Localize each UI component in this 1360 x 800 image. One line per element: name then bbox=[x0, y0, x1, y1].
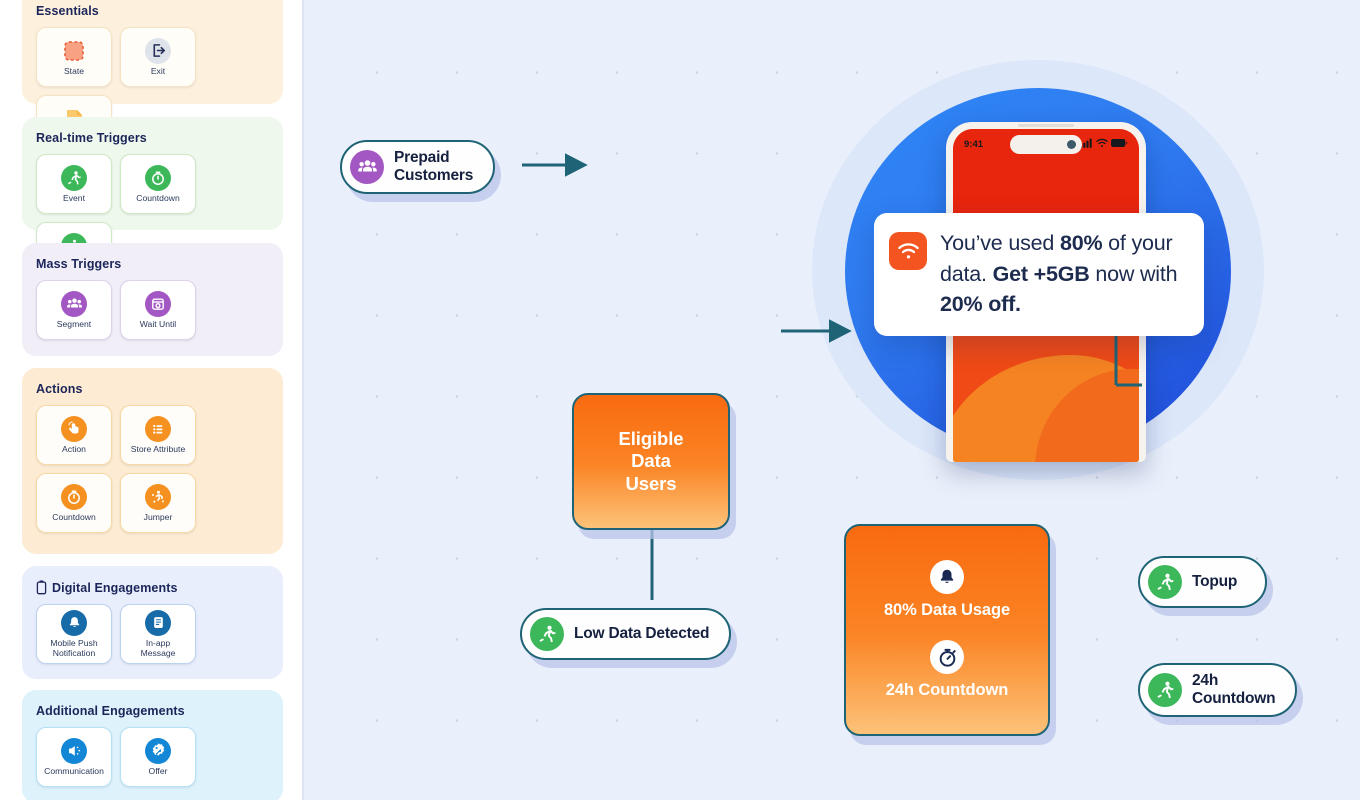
palette-section-essentials: Essentials State Exit bbox=[22, 0, 283, 104]
section-title-label: Mass Triggers bbox=[36, 257, 121, 271]
front-camera-icon bbox=[1067, 140, 1076, 149]
palette-item-label: Segment bbox=[57, 320, 91, 330]
pill-body[interactable]: 24h Countdown bbox=[1138, 663, 1297, 717]
section-title-label: Actions bbox=[36, 382, 83, 396]
megaphone-icon bbox=[61, 738, 87, 764]
stopwatch-icon bbox=[145, 165, 171, 191]
palette-item-store-attribute[interactable]: Store Attribute bbox=[120, 405, 196, 465]
wifi-app-icon bbox=[889, 232, 927, 270]
box-body[interactable]: Eligible Data Users bbox=[572, 393, 730, 530]
people-icon bbox=[61, 291, 87, 317]
palette-item-in-app-message[interactable]: In-app Message bbox=[120, 604, 196, 664]
list-icon bbox=[145, 416, 171, 442]
bell-icon bbox=[930, 560, 964, 594]
notif-seg-3: Get +5GB bbox=[993, 262, 1090, 286]
palette-item-countdown[interactable]: Countdown bbox=[120, 154, 196, 214]
campaign-row-data-usage: 80% Data Usage bbox=[884, 560, 1010, 620]
notif-seg-4: now with bbox=[1090, 262, 1178, 286]
notif-seg-0: You’ve used bbox=[940, 231, 1060, 255]
palette-item-communication[interactable]: Communication bbox=[36, 727, 112, 787]
section-title: Additional Engagements bbox=[36, 704, 269, 718]
status-icon-group bbox=[1080, 135, 1128, 153]
palette-item-label: In-app Message bbox=[141, 639, 176, 659]
dashed-square-icon bbox=[61, 38, 87, 64]
component-palette-sidebar: Essentials State Exit bbox=[0, 0, 302, 800]
palette-item-segment[interactable]: Segment bbox=[36, 280, 112, 340]
palette-item-mobile-push-notification[interactable]: Mobile Push Notification bbox=[36, 604, 112, 664]
push-notification-card: You’ve used 80% of your data. Get +5GB n… bbox=[874, 213, 1204, 336]
palette-item-label: Exit bbox=[151, 67, 165, 77]
phone-speaker bbox=[1018, 124, 1074, 127]
battery-icon bbox=[1111, 135, 1128, 153]
flow-node-low-data-detected[interactable]: Low Data Detected bbox=[520, 608, 731, 660]
node-label: Low Data Detected bbox=[574, 625, 709, 643]
section-title-label: Real-time Triggers bbox=[36, 131, 147, 145]
node-label: Eligible Data Users bbox=[619, 428, 684, 496]
palette-item-countdown-action[interactable]: Countdown bbox=[36, 473, 112, 533]
palette-item-label: Mobile Push Notification bbox=[50, 639, 97, 659]
palette-item-label: Action bbox=[62, 445, 86, 455]
box-body[interactable]: 80% Data Usage 24h Countdown bbox=[844, 524, 1050, 736]
journey-canvas[interactable]: 9:41 bbox=[302, 0, 1360, 800]
node-label: 24h Countdown bbox=[886, 681, 1008, 700]
mobile-device-icon bbox=[36, 580, 47, 595]
palette-item-event[interactable]: Event bbox=[36, 154, 112, 214]
percent-badge-icon bbox=[145, 738, 171, 764]
node-label: 80% Data Usage bbox=[884, 601, 1010, 620]
runner-icon bbox=[61, 165, 87, 191]
tap-hand-icon bbox=[61, 416, 87, 442]
palette-section-actions: Actions Action bbox=[22, 368, 283, 554]
notification-text: You’ve used 80% of your data. Get +5GB n… bbox=[940, 228, 1188, 320]
palette-item-label: Event bbox=[63, 194, 85, 204]
pill-body[interactable]: Topup bbox=[1138, 556, 1267, 608]
palette-item-state[interactable]: State bbox=[36, 27, 112, 87]
bell-icon bbox=[61, 610, 87, 636]
palette-item-offer[interactable]: Offer bbox=[120, 727, 196, 787]
message-document-icon bbox=[145, 610, 171, 636]
runner-icon bbox=[530, 617, 564, 651]
palette-item-wait-until[interactable]: Wait Until bbox=[120, 280, 196, 340]
palette-item-label: Communication bbox=[44, 767, 104, 777]
palette-section-additional-engagements: Additional Engagements Communication bbox=[22, 690, 283, 800]
pill-body[interactable]: Prepaid Customers bbox=[340, 140, 495, 194]
jumper-icon bbox=[145, 484, 171, 510]
stopwatch-icon bbox=[61, 484, 87, 510]
flow-node-eligible-data-users[interactable]: Eligible Data Users bbox=[572, 393, 730, 530]
palette-section-digital-engagements: Digital Engagements Mobile Push Notifica… bbox=[22, 566, 283, 679]
node-label: Prepaid Customers bbox=[394, 149, 473, 185]
palette-item-label: Jumper bbox=[144, 513, 173, 523]
section-title-label: Essentials bbox=[36, 4, 99, 18]
palette-item-jumper-action[interactable]: Jumper bbox=[120, 473, 196, 533]
pill-body[interactable]: Low Data Detected bbox=[520, 608, 731, 660]
people-icon bbox=[350, 150, 384, 184]
node-label: 24h Countdown bbox=[1192, 672, 1275, 708]
section-title-label: Digital Engagements bbox=[52, 581, 178, 595]
palette-item-label: Store Attribute bbox=[131, 445, 185, 455]
section-title: Mass Triggers bbox=[36, 257, 269, 271]
status-clock: 9:41 bbox=[964, 139, 983, 150]
campaign-row-countdown: 24h Countdown bbox=[886, 640, 1008, 700]
section-title: Real-time Triggers bbox=[36, 131, 269, 145]
node-label: Topup bbox=[1192, 573, 1237, 591]
palette-item-action[interactable]: Action bbox=[36, 405, 112, 465]
palette-item-label: Countdown bbox=[136, 194, 179, 204]
section-title: Digital Engagements bbox=[36, 580, 269, 595]
palette-item-label: State bbox=[64, 67, 84, 77]
dynamic-island bbox=[1010, 135, 1082, 154]
calendar-clock-icon bbox=[145, 291, 171, 317]
wifi-icon bbox=[1096, 135, 1108, 153]
notif-seg-1: 80% bbox=[1060, 231, 1102, 255]
flow-node-campaign[interactable]: 80% Data Usage 24h Countdown bbox=[844, 524, 1050, 736]
runner-icon bbox=[1148, 673, 1182, 707]
palette-item-label: Wait Until bbox=[140, 320, 176, 330]
section-title-label: Additional Engagements bbox=[36, 704, 185, 718]
app-root: Essentials State Exit bbox=[0, 0, 1360, 800]
palette-item-label: Countdown bbox=[52, 513, 95, 523]
flow-node-24h-countdown[interactable]: 24h Countdown bbox=[1138, 663, 1297, 717]
section-title: Actions bbox=[36, 382, 269, 396]
palette-section-real-time-triggers: Real-time Triggers Event bbox=[22, 117, 283, 230]
stopwatch-icon bbox=[930, 640, 964, 674]
notif-seg-5: 20% off. bbox=[940, 292, 1021, 316]
flow-node-prepaid-customers[interactable]: Prepaid Customers bbox=[340, 140, 495, 194]
palette-section-mass-triggers: Mass Triggers Segment bbox=[22, 243, 283, 356]
section-title: Essentials bbox=[36, 4, 269, 18]
palette-item-label: Offer bbox=[149, 767, 168, 777]
flow-node-topup[interactable]: Topup bbox=[1138, 556, 1267, 608]
exit-icon bbox=[145, 38, 171, 64]
runner-icon bbox=[1148, 565, 1182, 599]
palette-item-exit[interactable]: Exit bbox=[120, 27, 196, 87]
